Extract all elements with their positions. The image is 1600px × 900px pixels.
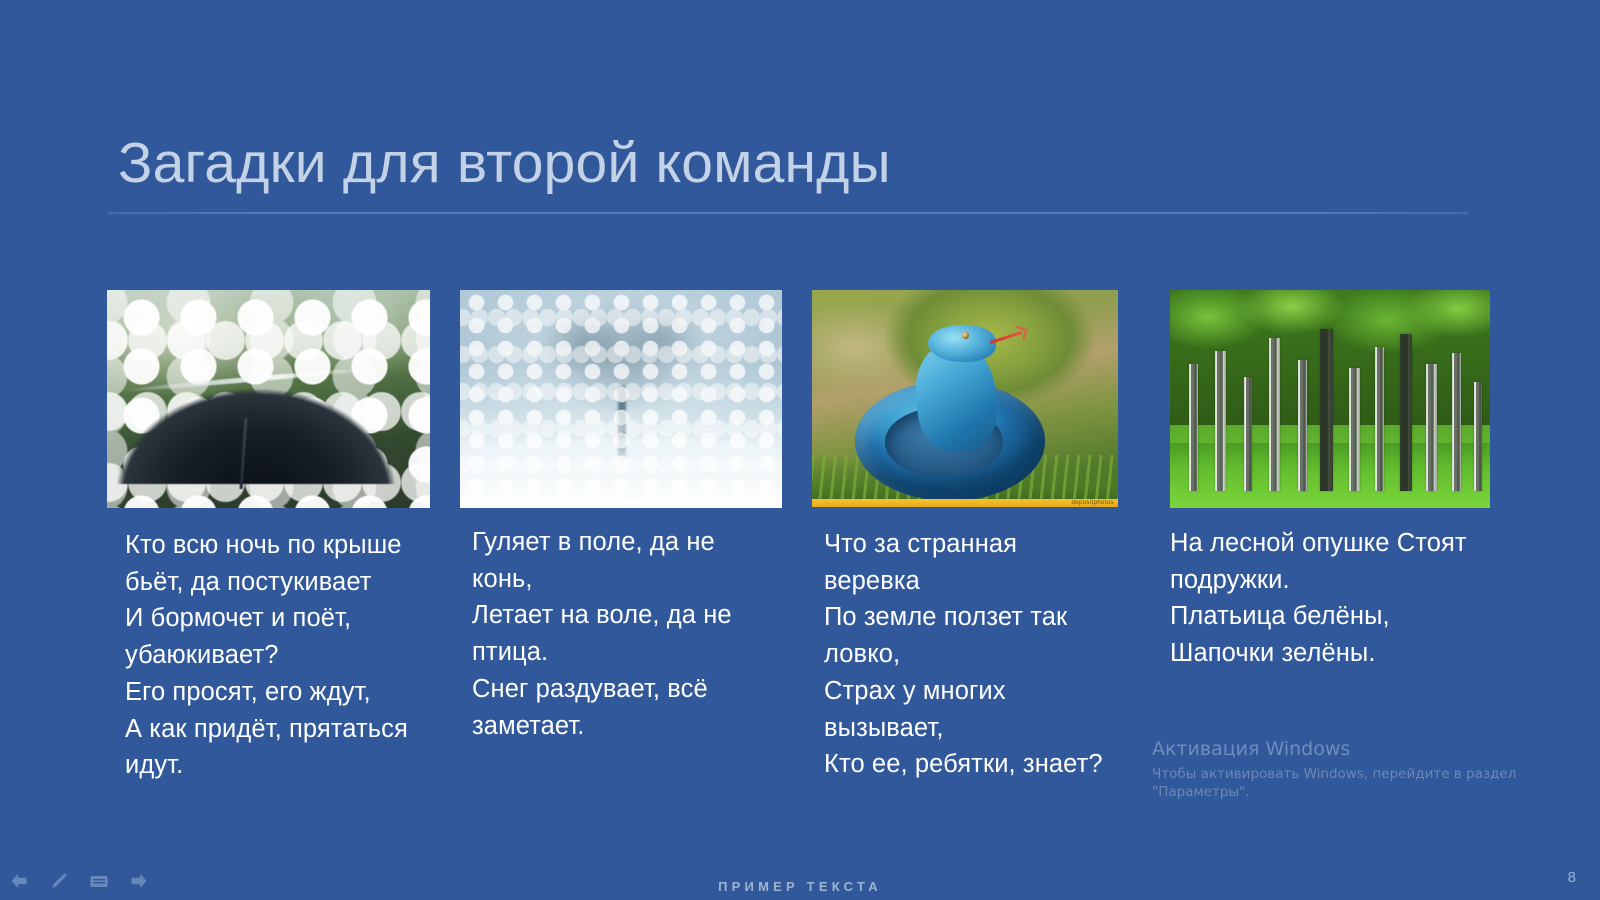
riddle-text-2: Гуляет в поле, да не конь, Летает на вол… [472, 524, 782, 744]
slide-page-number: 8 [1568, 869, 1576, 886]
presenter-controls [8, 870, 150, 892]
presentation-slide: Загадки для второй команды Кто всю ночь … [0, 0, 1600, 900]
riddle-column-1: Кто всю ночь по крыше бьёт, да постукива… [107, 290, 430, 784]
riddle-column-4: На лесной опушке Стоят подружки. Платьиц… [1170, 290, 1490, 672]
snow-flurry-overlay [460, 290, 782, 508]
image-watermark-bar: depositphotos [812, 499, 1118, 507]
arrow-left-icon[interactable] [8, 870, 30, 892]
windows-activation-watermark: Активация Windows Чтобы активировать Win… [1152, 738, 1552, 801]
rain-on-umbrella-photo [107, 290, 430, 508]
slides-icon[interactable] [88, 870, 110, 892]
blue-snake-photo: depositphotos [812, 290, 1118, 507]
riddle-column-2: Гуляет в поле, да не конь, Летает на вол… [460, 290, 782, 744]
title-divider [108, 212, 1468, 214]
riddle-text-4: На лесной опушке Стоят подружки. Платьиц… [1170, 525, 1490, 672]
birch-grove-photo [1170, 290, 1490, 508]
birch-trunks [1170, 290, 1490, 508]
windows-activation-title: Активация Windows [1152, 738, 1552, 762]
riddle-column-3: depositphotos Что за странная веревка По… [812, 290, 1118, 783]
riddle-text-1: Кто всю ночь по крыше бьёт, да постукива… [125, 527, 430, 784]
snake-eye [962, 332, 969, 339]
slide-footer-text: ПРИМЕР ТЕКСТА [0, 879, 1600, 894]
snowy-tree-photo [460, 290, 782, 508]
pen-icon[interactable] [48, 870, 70, 892]
page-title: Загадки для второй команды [118, 134, 1458, 194]
snake-head [928, 325, 995, 362]
arrow-right-icon[interactable] [128, 870, 150, 892]
watermark-label: depositphotos [1071, 499, 1114, 507]
windows-activation-body: Чтобы активировать Windows, перейдите в … [1152, 765, 1552, 801]
riddle-text-3: Что за странная веревка По земле ползет … [824, 526, 1118, 783]
